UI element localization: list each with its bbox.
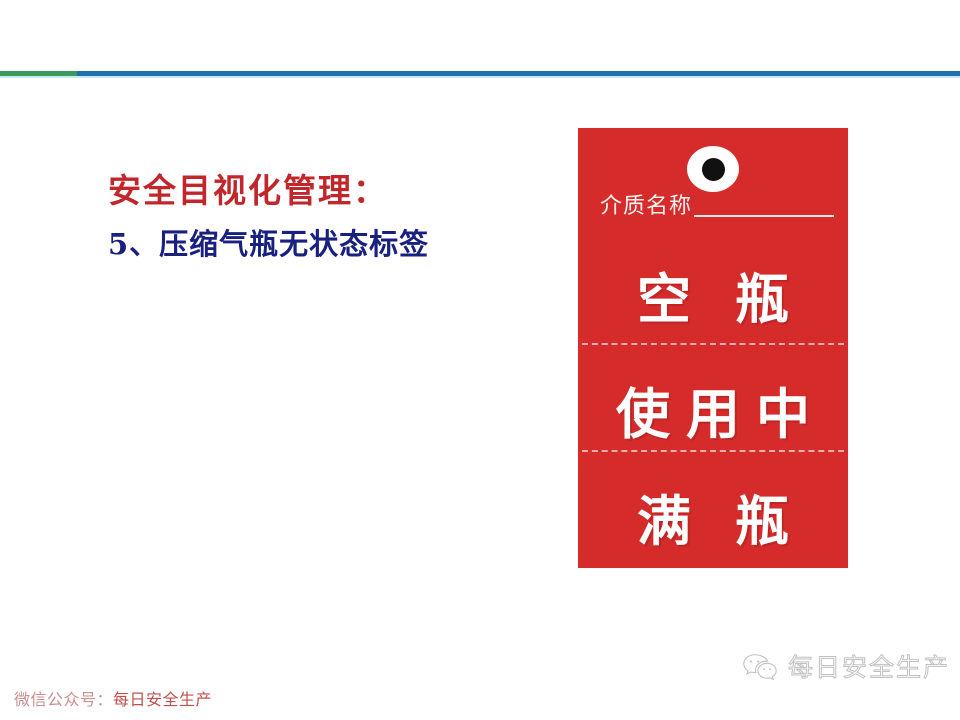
tag-perforation-line-2 xyxy=(582,450,844,452)
slide-canvas: 安全目视化管理： 5、压缩气瓶无状态标签 介质名称 空瓶 使用中 满瓶 xyxy=(0,0,960,720)
watermark-text: 每日安全生产 xyxy=(788,655,950,680)
tag-section-in-use: 使用中 xyxy=(578,373,848,457)
page-subtitle: 5、压缩气瓶无状态标签 xyxy=(108,227,538,262)
media-name-label: 介质名称 xyxy=(600,196,692,220)
gas-cylinder-status-tag: 介质名称 空瓶 使用中 满瓶 xyxy=(578,128,848,568)
tag-perforation-line-1 xyxy=(582,343,844,345)
credit-line: 微信公众号：每日安全生产 xyxy=(14,692,212,708)
credit-label: 微信公众号： xyxy=(14,690,113,709)
heading-block: 安全目视化管理： 5、压缩气瓶无状态标签 xyxy=(108,172,538,262)
page-title: 安全目视化管理： xyxy=(108,172,538,211)
media-name-field: 介质名称 xyxy=(600,196,834,220)
tag-section-empty: 空瓶 xyxy=(578,258,848,342)
tag-section-full: 满瓶 xyxy=(578,480,848,564)
tag-section-in-use-label: 使用中 xyxy=(600,388,826,442)
hole-punch-icon xyxy=(687,146,739,192)
media-name-write-line xyxy=(694,215,834,217)
divider-glow-line xyxy=(0,76,960,78)
tag-section-full-label: 满瓶 xyxy=(593,495,833,549)
wechat-icon xyxy=(742,652,778,682)
tag-section-empty-label: 空瓶 xyxy=(593,273,833,327)
wechat-watermark: 每日安全生产 xyxy=(742,652,950,682)
credit-value: 每日安全生产 xyxy=(113,690,212,709)
hole-punch-core xyxy=(702,158,725,181)
